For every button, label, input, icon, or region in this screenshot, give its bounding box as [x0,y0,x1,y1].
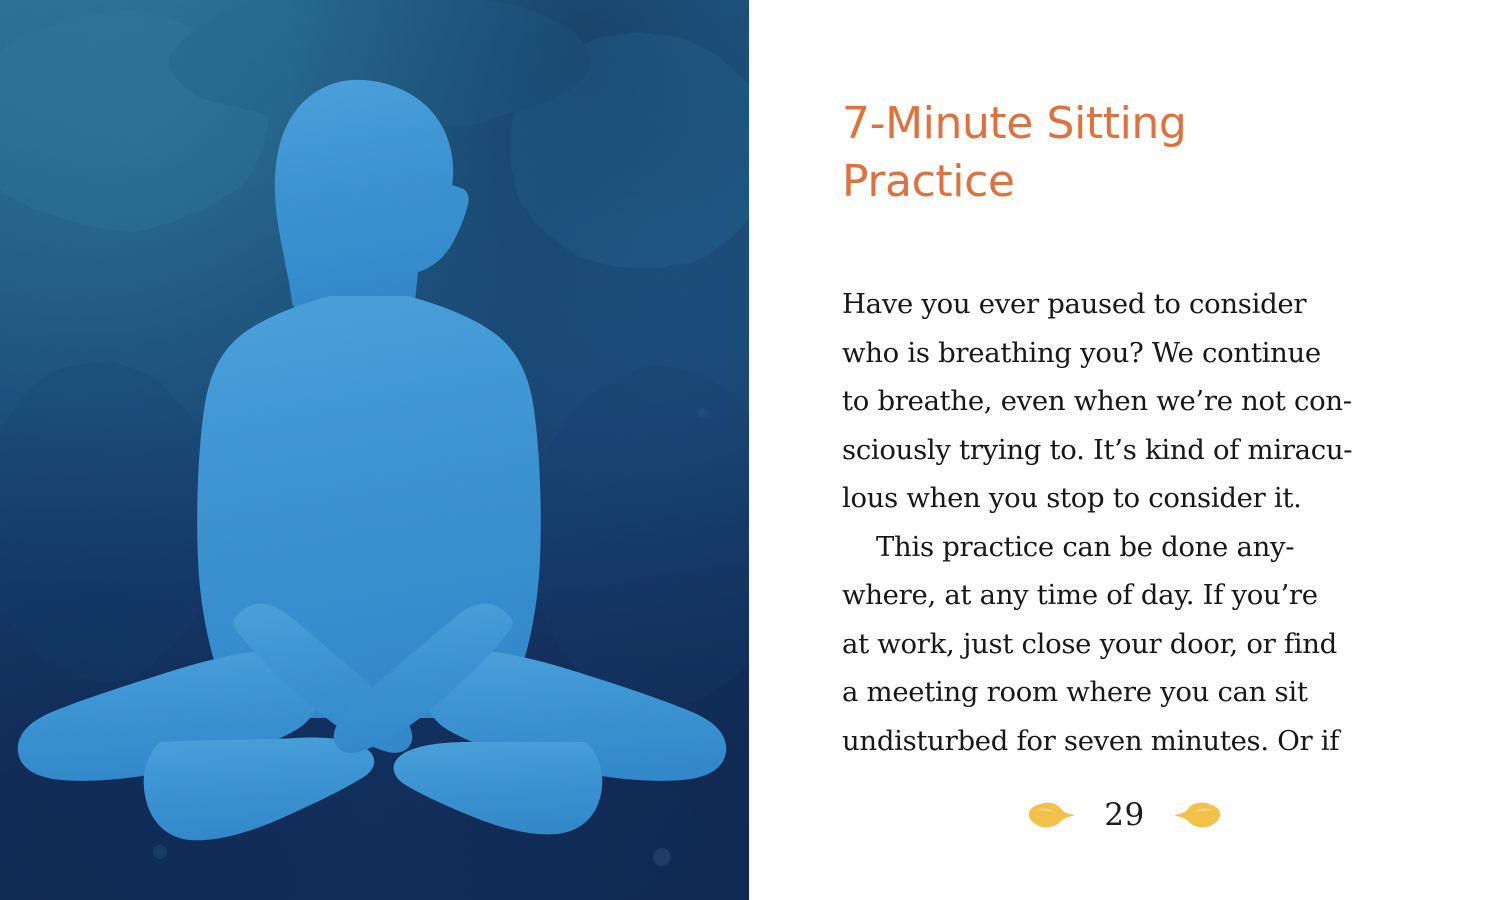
chapter-title: 7-Minute Sitting Practice [842,95,1362,209]
leaf-flourish-icon [1171,798,1223,832]
paragraph-2: This practice can be done any- where, at… [842,523,1422,766]
page-footer: 29 [749,798,1500,832]
paragraph-1: Have you ever paused to consider who is … [842,280,1422,523]
leaf-flourish-icon [1026,798,1078,832]
body-copy: Have you ever paused to consider who is … [842,280,1422,765]
illustration-panel [0,0,749,900]
meditating-figure-illustration [0,0,749,900]
text-page: 7-Minute Sitting Practice Have you ever … [749,0,1500,900]
book-spread: 7-Minute Sitting Practice Have you ever … [0,0,1500,900]
page-number: 29 [1104,800,1144,831]
